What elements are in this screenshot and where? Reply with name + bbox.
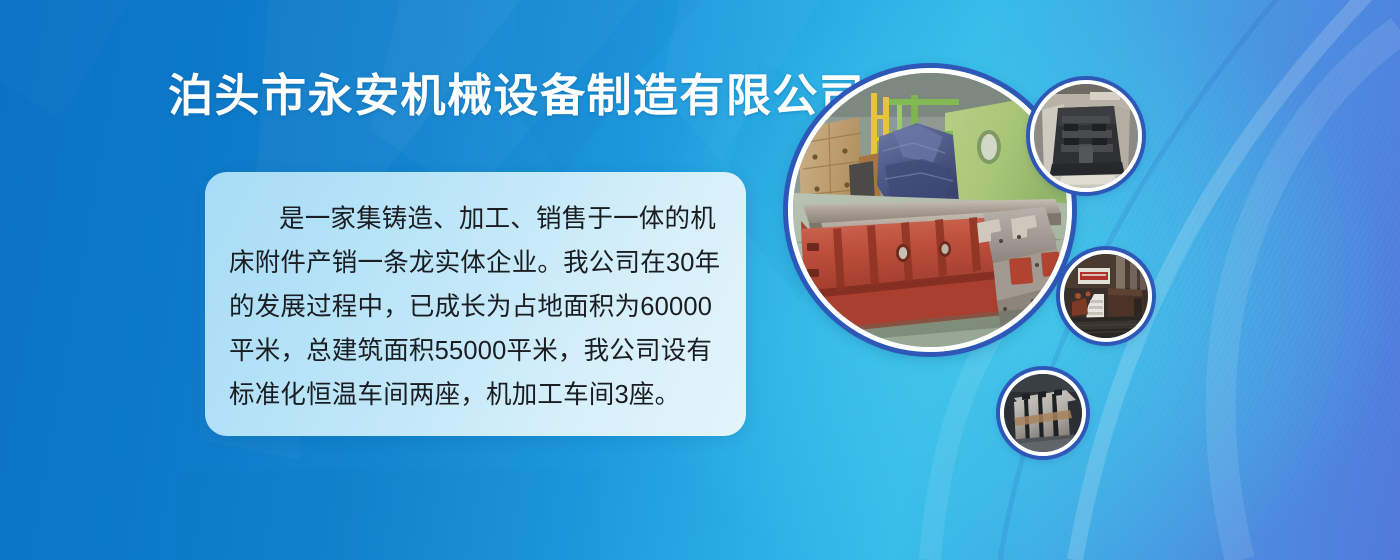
main-photo-artwork	[793, 73, 1067, 347]
grey-casting-stack-photo	[1000, 370, 1086, 456]
page-title: 泊头市永安机械设备制造有限公司	[168, 71, 866, 121]
dark-casting-artwork	[1034, 84, 1138, 188]
company-description-text: 是一家集铸造、加工、销售于一体的机床附件产销一条龙实体企业。我公司在30年的发展…	[229, 197, 724, 417]
company-description-card: 是一家集铸造、加工、销售于一体的机床附件产销一条龙实体企业。我公司在30年的发展…	[205, 172, 746, 436]
grey-casting-artwork	[1004, 374, 1082, 452]
main-machine-bed-photo	[788, 68, 1072, 352]
dark-casting-photo	[1030, 80, 1142, 192]
company-banner: 泊头市永安机械设备制造有限公司 是一家集铸造、加工、销售于一体的机床附件产销一条…	[0, 0, 1400, 560]
workshop-interior-photo	[1060, 250, 1152, 342]
workshop-interior-artwork	[1064, 254, 1148, 338]
